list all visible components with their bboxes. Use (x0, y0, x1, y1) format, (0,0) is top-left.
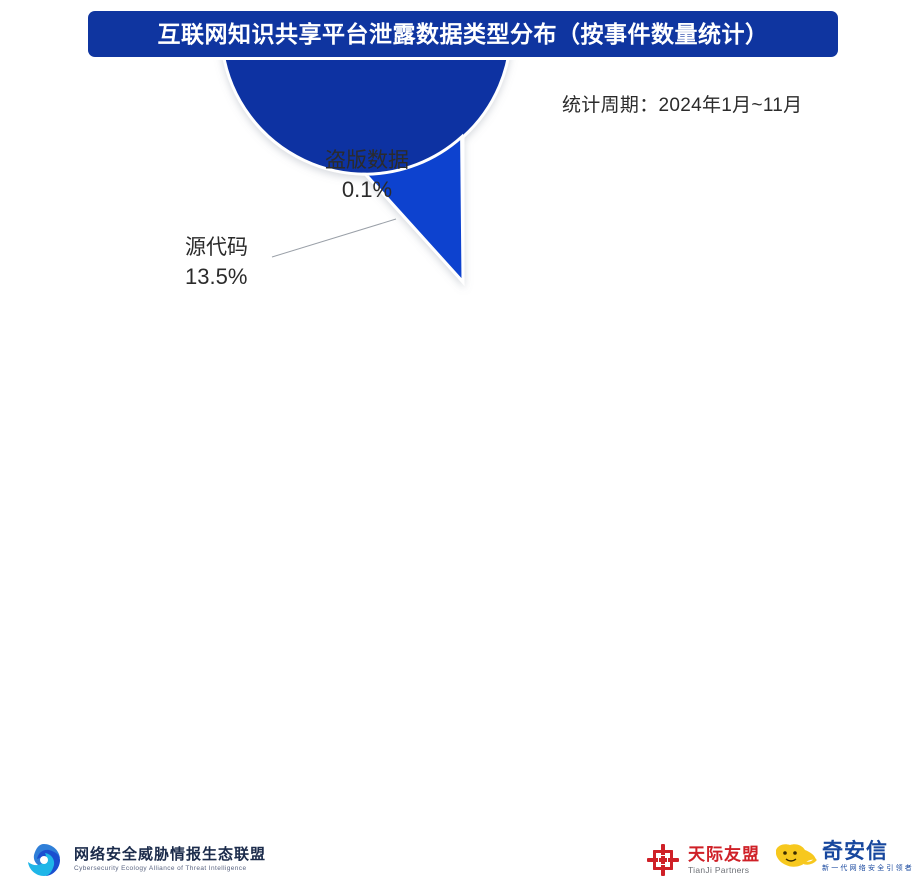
callout-source-code-percent: 13.5% (185, 262, 248, 292)
callout-source-code: 源代码 13.5% (185, 234, 248, 292)
alliance-name-cn: 网络安全威胁情报生态联盟 (74, 846, 266, 864)
slice-label-common-document-category: 普通文档 (392, 362, 542, 396)
callout-piracy-data: 盗版数据 0.1% (307, 147, 427, 205)
pie-slice-piracy-data[interactable] (462, 137, 463, 282)
pie-chart-svg (0, 60, 919, 410)
tianji-name-en: TianJi Partners (688, 864, 760, 876)
logo-alliance: 网络安全威胁情报生态联盟 Cybersecurity Ecology Allia… (22, 838, 266, 882)
alliance-name-en: Cybersecurity Ecology Alliance of Threat… (74, 864, 266, 874)
tianji-name-cn: 天际友盟 (688, 845, 760, 864)
logo-qax: 奇安信 新一代网络安全引领者 (772, 840, 914, 874)
callout-piracy-category: 盗版数据 (307, 147, 427, 175)
callout-source-code-category: 源代码 (185, 234, 248, 262)
qax-logo-text: 奇安信 新一代网络安全引领者 (822, 840, 914, 874)
page-title: 互联网知识共享平台泄露数据类型分布（按事件数量统计） (158, 23, 769, 46)
footer-logo-bar: 网络安全威胁情报生态联盟 Cybersecurity Ecology Allia… (0, 410, 919, 480)
logo-tianji: 天际友盟 TianJi Partners (645, 842, 760, 878)
alliance-shield-icon (22, 838, 66, 882)
callout-piracy-percent: 0.1% (307, 175, 427, 205)
tianji-cross-icon (645, 842, 681, 878)
qax-name-cn: 奇安信 (822, 840, 914, 863)
alliance-logo-text: 网络安全威胁情报生态联盟 Cybersecurity Ecology Allia… (74, 846, 266, 874)
leader-line-source-code (272, 219, 396, 257)
pie-chart: 盗版数据 0.1% 源代码 13.5% 普通文档 86.4% (0, 60, 919, 410)
qax-mascot-icon (772, 842, 818, 872)
slide-root: 互联网知识共享平台泄露数据类型分布（按事件数量统计） 统计周期：2024年1月~… (0, 0, 919, 480)
tianji-logo-text: 天际友盟 TianJi Partners (688, 845, 760, 876)
qax-slogan: 新一代网络安全引领者 (822, 863, 914, 874)
title-banner: 互联网知识共享平台泄露数据类型分布（按事件数量统计） (88, 11, 838, 57)
